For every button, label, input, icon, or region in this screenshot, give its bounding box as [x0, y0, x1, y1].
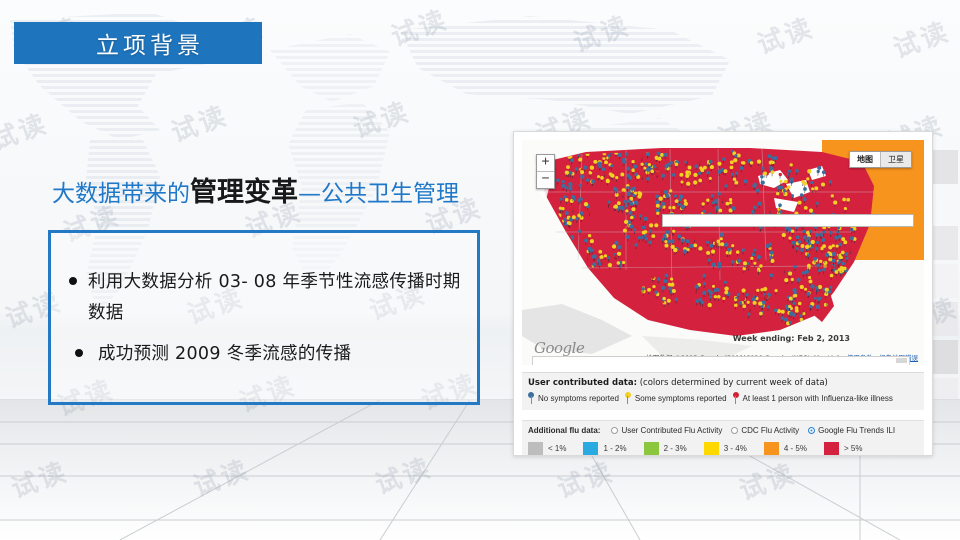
- watermark-text: 试读: [567, 5, 634, 60]
- map-pin-icon: [733, 392, 740, 404]
- map-pin-icon: [528, 392, 535, 404]
- user-contributed-header: User contributed data: (colors determine…: [528, 378, 918, 388]
- heading-part-2: 管理变革: [190, 177, 298, 208]
- pin-legend-row: No symptoms reported Some symptoms repor…: [528, 392, 918, 404]
- slide-canvas: 试读 试读 试读 试读 试读 试读 试读 试读 试读 试读 试读 试读 试读 试…: [0, 0, 960, 540]
- pin-legend-label: Some symptoms reported: [635, 394, 727, 403]
- scale-item: 4 - 5%: [764, 442, 807, 455]
- scale-swatch: [764, 442, 779, 455]
- scale-label: 1 - 2%: [603, 444, 626, 453]
- map-search-input[interactable]: [662, 214, 914, 227]
- heading-part-1: 大数据带来的: [52, 181, 190, 207]
- user-contributed-note: (colors determined by current week of da…: [640, 378, 828, 388]
- scale-label: < 1%: [548, 444, 566, 453]
- scale-label: 4 - 5%: [784, 444, 807, 453]
- radio-google-flu-trends-ili[interactable]: Google Flu Trends ILI: [808, 426, 895, 435]
- list-item: 利用大数据分析 03- 08 年季节性流感传播时期数据: [69, 267, 465, 329]
- color-scale-legend: < 1% 1 - 2% 2 - 3% 3 - 4% 4 - 5%: [528, 442, 918, 455]
- scale-item: > 5%: [824, 442, 862, 455]
- bullet-dot-icon: [69, 277, 77, 285]
- bullet-text: 成功预测 2009 冬季流感的传播: [98, 339, 351, 370]
- radio-button-icon[interactable]: [808, 427, 815, 434]
- radio-cdc-flu-activity[interactable]: CDC Flu Activity: [731, 426, 799, 435]
- watermark-text: 试读: [369, 447, 436, 502]
- bullet-list: 利用大数据分析 03- 08 年季节性流感传播时期数据 成功预测 2009 冬季…: [69, 267, 465, 380]
- user-contributed-title: User contributed data:: [528, 378, 637, 388]
- watermark-text: 试读: [187, 449, 254, 504]
- scale-label: 3 - 4%: [724, 444, 747, 453]
- map-type-switcher[interactable]: 地图 卫星: [849, 151, 912, 168]
- scale-item: < 1%: [528, 442, 566, 455]
- watermark-text: 试读: [551, 451, 618, 506]
- scale-item: 2 - 3%: [644, 442, 687, 455]
- map-pin-icon: [625, 392, 632, 404]
- bullet-text: 利用大数据分析 03- 08 年季节性流感传播时期数据: [88, 267, 465, 329]
- flu-trends-map-card: + − 地图 卫星 Google Week ending: Feb 2, 201…: [513, 131, 933, 456]
- list-item: 成功预测 2009 冬季流感的传播: [69, 339, 465, 370]
- watermark-text: 试读: [165, 95, 232, 150]
- map-zoom-controls[interactable]: + −: [536, 154, 555, 189]
- pin-legend-item: Some symptoms reported: [625, 392, 727, 404]
- scale-swatch: [644, 442, 659, 455]
- map-graphic: [522, 140, 924, 365]
- watermark-text: 试读: [751, 7, 818, 62]
- radio-label: Google Flu Trends ILI: [818, 426, 895, 435]
- pin-legend-item: At least 1 person with Influenza-like il…: [733, 392, 893, 404]
- watermark-text: 试读: [733, 453, 800, 508]
- section-heading: 大数据带来的管理变革—公共卫生管理: [52, 170, 459, 209]
- scale-swatch: [583, 442, 598, 455]
- watermark-text: 试读: [5, 451, 72, 506]
- zoom-in-button[interactable]: +: [537, 155, 554, 172]
- scale-swatch: [528, 442, 543, 455]
- page-title: 立项背景: [14, 22, 262, 64]
- scale-label: > 5%: [844, 444, 862, 453]
- pin-legend-label: No symptoms reported: [538, 394, 619, 403]
- radio-button-icon[interactable]: [731, 427, 738, 434]
- scale-item: 3 - 4%: [704, 442, 747, 455]
- scrollbar-thumb[interactable]: [896, 358, 907, 363]
- scale-swatch: [704, 442, 719, 455]
- bullet-dot-icon: [75, 349, 83, 357]
- week-ending-label: Week ending: Feb 2, 2013: [733, 334, 850, 343]
- pin-legend-label: At least 1 person with Influenza-like il…: [743, 394, 893, 403]
- map-horizontal-scrollbar[interactable]: [532, 356, 910, 365]
- watermark-text: 试读: [0, 103, 53, 158]
- scale-label: 2 - 3%: [664, 444, 687, 453]
- heading-part-3: —公共卫生管理: [298, 181, 459, 207]
- watermark-text: 试读: [887, 11, 954, 66]
- scale-swatch: [824, 442, 839, 455]
- radio-user-contributed-flu-activity[interactable]: User Contributed Flu Activity: [611, 426, 722, 435]
- radio-label: User Contributed Flu Activity: [621, 426, 722, 435]
- watermark-text: 试读: [347, 91, 414, 146]
- flu-data-options: Additional flu data: User Contributed Fl…: [528, 426, 918, 435]
- scale-item: 1 - 2%: [583, 442, 626, 455]
- map-type-map-button[interactable]: 地图: [850, 152, 880, 167]
- map-type-satellite-button[interactable]: 卫星: [880, 152, 911, 167]
- pin-legend-item: No symptoms reported: [528, 392, 619, 404]
- map-viewport[interactable]: + − 地图 卫星 Google Week ending: Feb 2, 201…: [522, 140, 924, 365]
- bullet-box: 利用大数据分析 03- 08 年季节性流感传播时期数据 成功预测 2009 冬季…: [48, 230, 480, 405]
- radio-button-icon[interactable]: [611, 427, 618, 434]
- user-contributed-legend: User contributed data: (colors determine…: [522, 372, 924, 410]
- slide-title-banner: 立项背景: [14, 22, 262, 64]
- google-logo: Google: [534, 339, 584, 357]
- radio-label: CDC Flu Activity: [741, 426, 799, 435]
- watermark-text: 试读: [385, 0, 452, 54]
- zoom-out-button[interactable]: −: [537, 172, 554, 188]
- additional-flu-data-title: Additional flu data:: [528, 426, 600, 435]
- additional-flu-data-legend: Additional flu data: User Contributed Fl…: [522, 420, 924, 456]
